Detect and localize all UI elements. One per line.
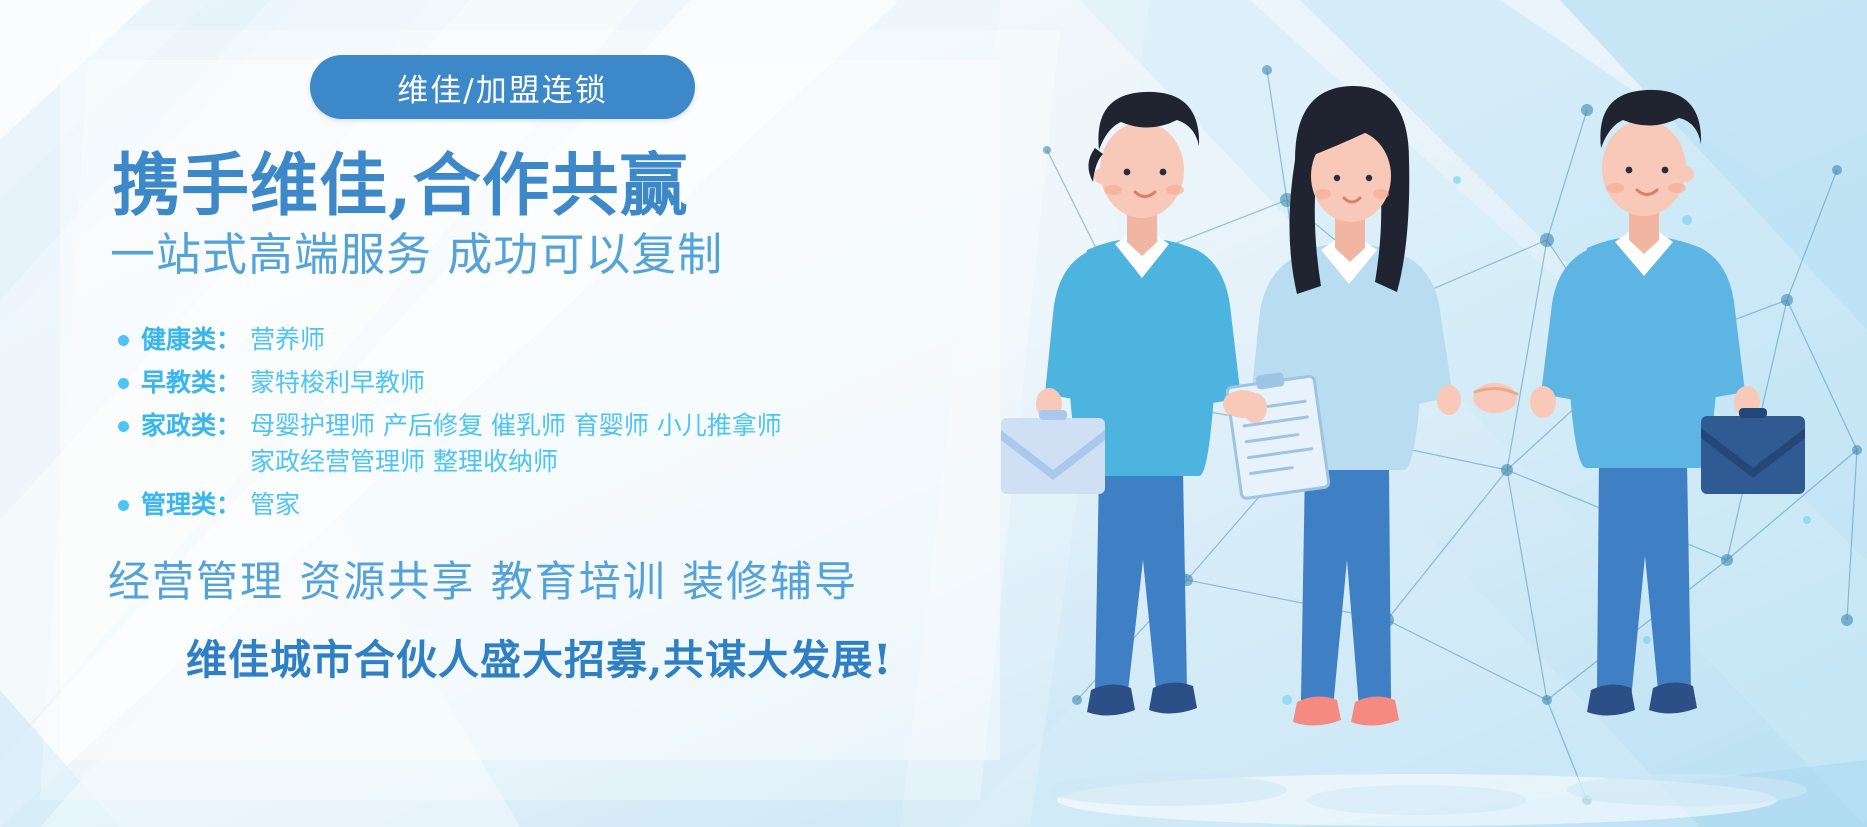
banner-content: 维佳/加盟连锁 携手维佳,合作共赢 一站式高端服务 成功可以复制 健康类： 营养… <box>0 0 980 827</box>
headline: 携手维佳,合作共赢 <box>112 152 689 220</box>
recruitment-tagline: 维佳城市合伙人盛大招募,共谋大发展! <box>186 626 892 686</box>
services-line: 经营管理 资源共享 教育培训 装修辅导 <box>108 548 858 609</box>
bullet-dot-icon <box>118 378 129 389</box>
category-values: 营养师 <box>250 322 325 358</box>
category-values-line2: 家政经营管理师 整理收纳师 <box>250 444 782 480</box>
list-item: 健康类： 营养师 <box>118 322 938 358</box>
promo-banner: 维佳/加盟连锁 携手维佳,合作共赢 一站式高端服务 成功可以复制 健康类： 营养… <box>0 0 1867 827</box>
bullet-dot-icon <box>118 421 129 432</box>
subheadline: 一站式高端服务 成功可以复制 <box>110 232 723 277</box>
category-label: 早教类： <box>141 365 241 401</box>
category-label: 健康类： <box>141 322 241 358</box>
category-values-line1: 母婴护理师 产后修复 催乳师 育婴师 小儿推拿师 <box>250 411 782 440</box>
category-values: 管家 <box>250 487 300 523</box>
category-list: 健康类： 营养师 早教类： 蒙特梭利早教师 家政类： 母婴护理师 产后修复 催乳… <box>118 322 938 530</box>
list-item: 家政类： 母婴护理师 产后修复 催乳师 育婴师 小儿推拿师 家政经营管理师 整理… <box>118 408 938 480</box>
category-label: 家政类： <box>141 408 241 444</box>
brand-badge[interactable]: 维佳/加盟连锁 <box>310 55 695 119</box>
brand-badge-label: 维佳/加盟连锁 <box>397 65 607 110</box>
person-left <box>1001 92 1250 716</box>
list-item: 管理类： 管家 <box>118 487 938 523</box>
bullet-dot-icon <box>118 500 129 511</box>
list-item: 早教类： 蒙特梭利早教师 <box>118 365 938 401</box>
category-values: 母婴护理师 产后修复 催乳师 育婴师 小儿推拿师 家政经营管理师 整理收纳师 <box>250 408 782 480</box>
bullet-dot-icon <box>118 335 129 346</box>
category-values: 蒙特梭利早教师 <box>250 365 425 401</box>
people-illustration <box>987 0 1867 827</box>
category-label: 管理类： <box>141 487 241 523</box>
